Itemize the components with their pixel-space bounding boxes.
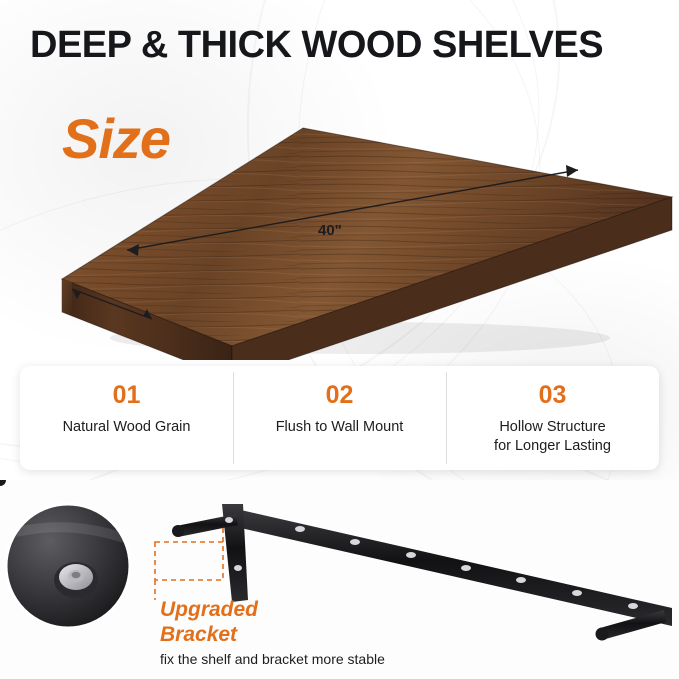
product-infographic: DEEP & THICK WOOD SHELVES Size — [0, 0, 679, 679]
bracket-title-line2: Bracket — [160, 622, 490, 647]
feature-text: Natural Wood Grain — [20, 418, 233, 437]
length-dimension-label: 40" — [318, 222, 342, 239]
shelf-illustration: 40" 6.5" — [0, 70, 679, 360]
feature-text: Hollow Structure for Longer Lasting — [446, 418, 659, 456]
bracket-closeup-circle — [6, 504, 130, 628]
callout-dashed-box — [155, 526, 223, 600]
bracket-title-line1: Upgraded — [160, 597, 490, 622]
feature-item-01: 01 Natural Wood Grain — [20, 366, 233, 470]
feature-number: 02 — [233, 378, 446, 412]
feature-text: Flush to Wall Mount — [233, 418, 446, 437]
feature-strip: 01 Natural Wood Grain 02 Flush to Wall M… — [20, 366, 659, 470]
bracket-caption: Upgraded Bracket fix the shelf and brack… — [160, 597, 490, 667]
feature-number: 01 — [20, 378, 233, 412]
page-title: DEEP & THICK WOOD SHELVES — [30, 24, 603, 67]
bracket-subtitle: fix the shelf and bracket more stable — [160, 651, 490, 667]
feature-item-02: 02 Flush to Wall Mount — [233, 366, 446, 470]
shelf-svg — [0, 70, 679, 360]
feature-item-03: 03 Hollow Structure for Longer Lasting — [446, 366, 659, 470]
feature-number: 03 — [446, 378, 659, 412]
